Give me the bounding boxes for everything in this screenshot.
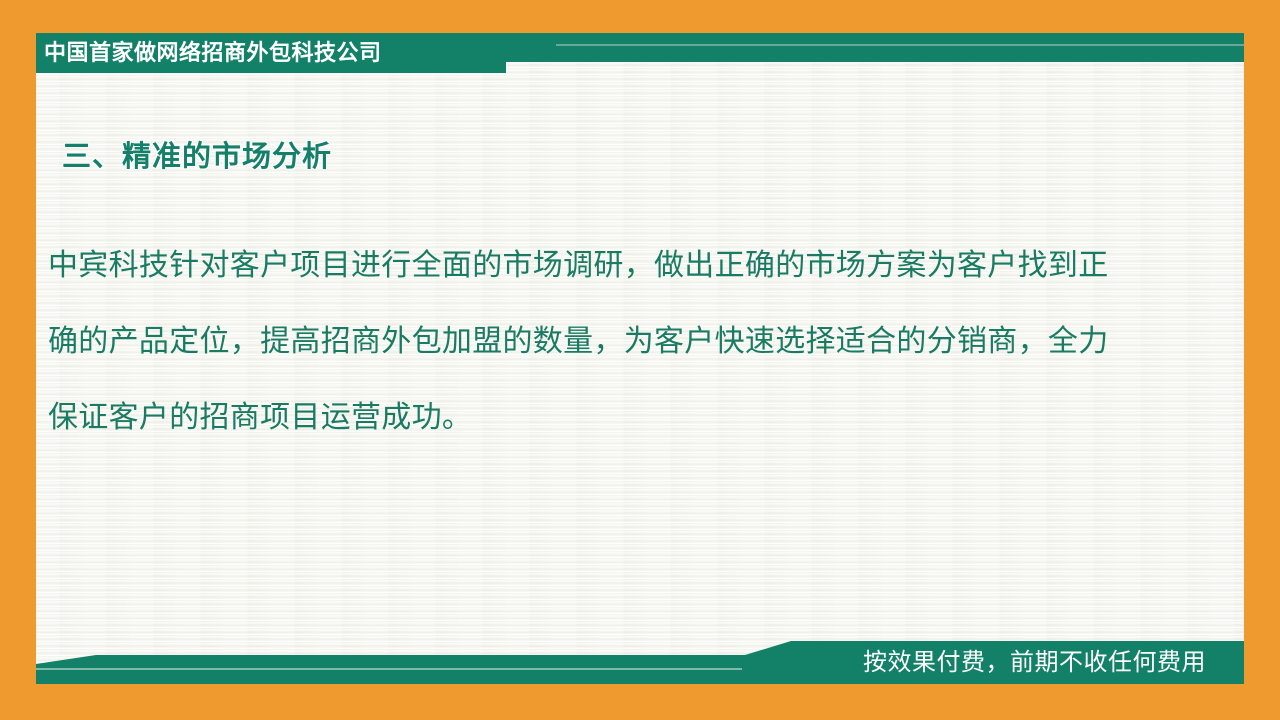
header-title: 中国首家做网络招商外包科技公司 [44,33,382,73]
header-hairline [556,44,1244,46]
section-heading: 三、精准的市场分析 [62,133,332,175]
body-paragraph: 中宾科技针对客户项目进行全面的市场调研，做出正确的市场方案为客户找到正 确的产品… [48,228,1188,456]
paragraph-line-3: 保证客户的招商项目运营成功。 [48,380,1188,456]
paragraph-line-1: 中宾科技针对客户项目进行全面的市场调研，做出正确的市场方案为客户找到正 [48,228,1188,304]
paragraph-line-2: 确的产品定位，提高招商外包加盟的数量，为客户快速选择适合的分销商，全力 [48,304,1188,380]
header-band-right [470,33,1244,62]
footer-slogan: 按效果付费，前期不收任何费用 [0,645,1228,681]
slide-root: 中国首家做网络招商外包科技公司 三、精准的市场分析 中宾科技针对客户项目进行全面… [0,0,1280,720]
